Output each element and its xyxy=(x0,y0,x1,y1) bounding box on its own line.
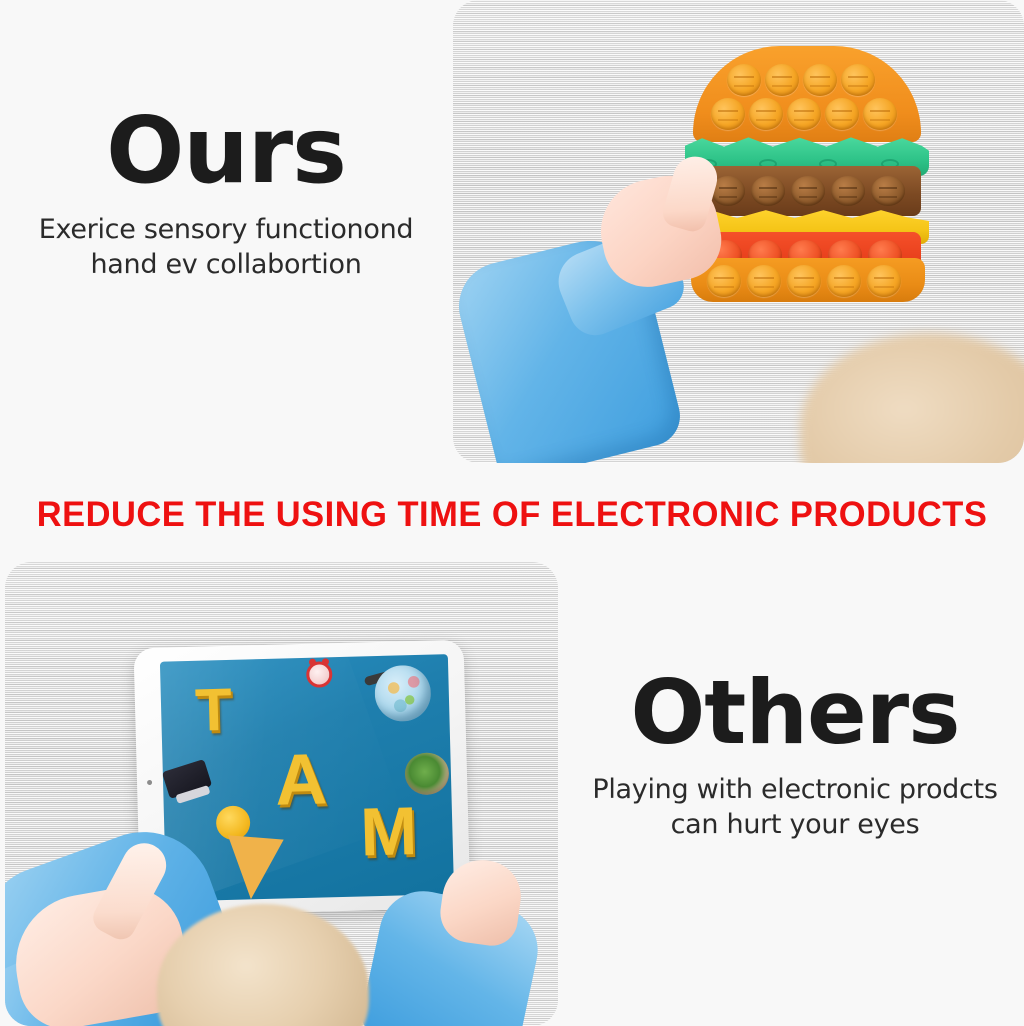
others-photo: T A M xyxy=(5,562,558,1026)
cactus-pot-icon xyxy=(404,752,449,795)
others-text-block: Others Playing with electronic prodcts c… xyxy=(566,668,1024,842)
camera-icon xyxy=(147,780,152,785)
child-hand-top xyxy=(473,156,743,463)
ours-subline: Exerice sensory functionond hand ev coll… xyxy=(0,212,452,282)
pop-bubble xyxy=(841,64,875,96)
pop-bubble xyxy=(871,176,905,206)
pop-bubble xyxy=(803,64,837,96)
banner-text: REDUCE THE USING TIME OF ELECTRONIC PROD… xyxy=(8,487,1017,543)
pop-bubble xyxy=(791,176,825,206)
others-headline: Others xyxy=(566,668,1024,758)
pop-bubble xyxy=(787,265,821,297)
globe-icon xyxy=(374,665,431,722)
pop-bubble xyxy=(749,98,783,130)
pop-bubble xyxy=(711,98,745,130)
screen-letter-m: M xyxy=(360,797,418,866)
child-head-blurred xyxy=(800,333,1024,463)
screen-letter-a: A xyxy=(274,743,328,816)
ours-headline: Ours xyxy=(0,104,452,198)
others-subline-line2: can hurt your eyes xyxy=(566,807,1024,842)
pop-bubble xyxy=(827,265,861,297)
pop-bubble xyxy=(787,98,821,130)
ours-subline-line2: hand ev collabortion xyxy=(0,247,452,282)
pop-bubble xyxy=(751,176,785,206)
pop-bubble xyxy=(765,64,799,96)
pop-bubble xyxy=(831,176,865,206)
ours-text-block: Ours Exerice sensory functionond hand ev… xyxy=(0,104,452,282)
pop-bubble xyxy=(867,265,901,297)
product-comparison-page: REDUCE THE USING TIME OF ELECTRONIC PROD… xyxy=(0,0,1024,1026)
pop-bubble xyxy=(727,64,761,96)
pop-bubble xyxy=(747,265,781,297)
ours-subline-line1: Exerice sensory functionond xyxy=(39,214,413,245)
others-subline-line1: Playing with electronic prodcts xyxy=(592,774,997,805)
others-subline: Playing with electronic prodcts can hurt… xyxy=(566,772,1024,842)
ours-photo xyxy=(453,0,1024,463)
screen-letter-t: T xyxy=(194,680,232,741)
pop-bubble xyxy=(825,98,859,130)
toy-layer-bun-top xyxy=(693,46,921,142)
bubble-row xyxy=(727,64,875,96)
bubble-row xyxy=(711,98,897,130)
pop-bubble xyxy=(863,98,897,130)
